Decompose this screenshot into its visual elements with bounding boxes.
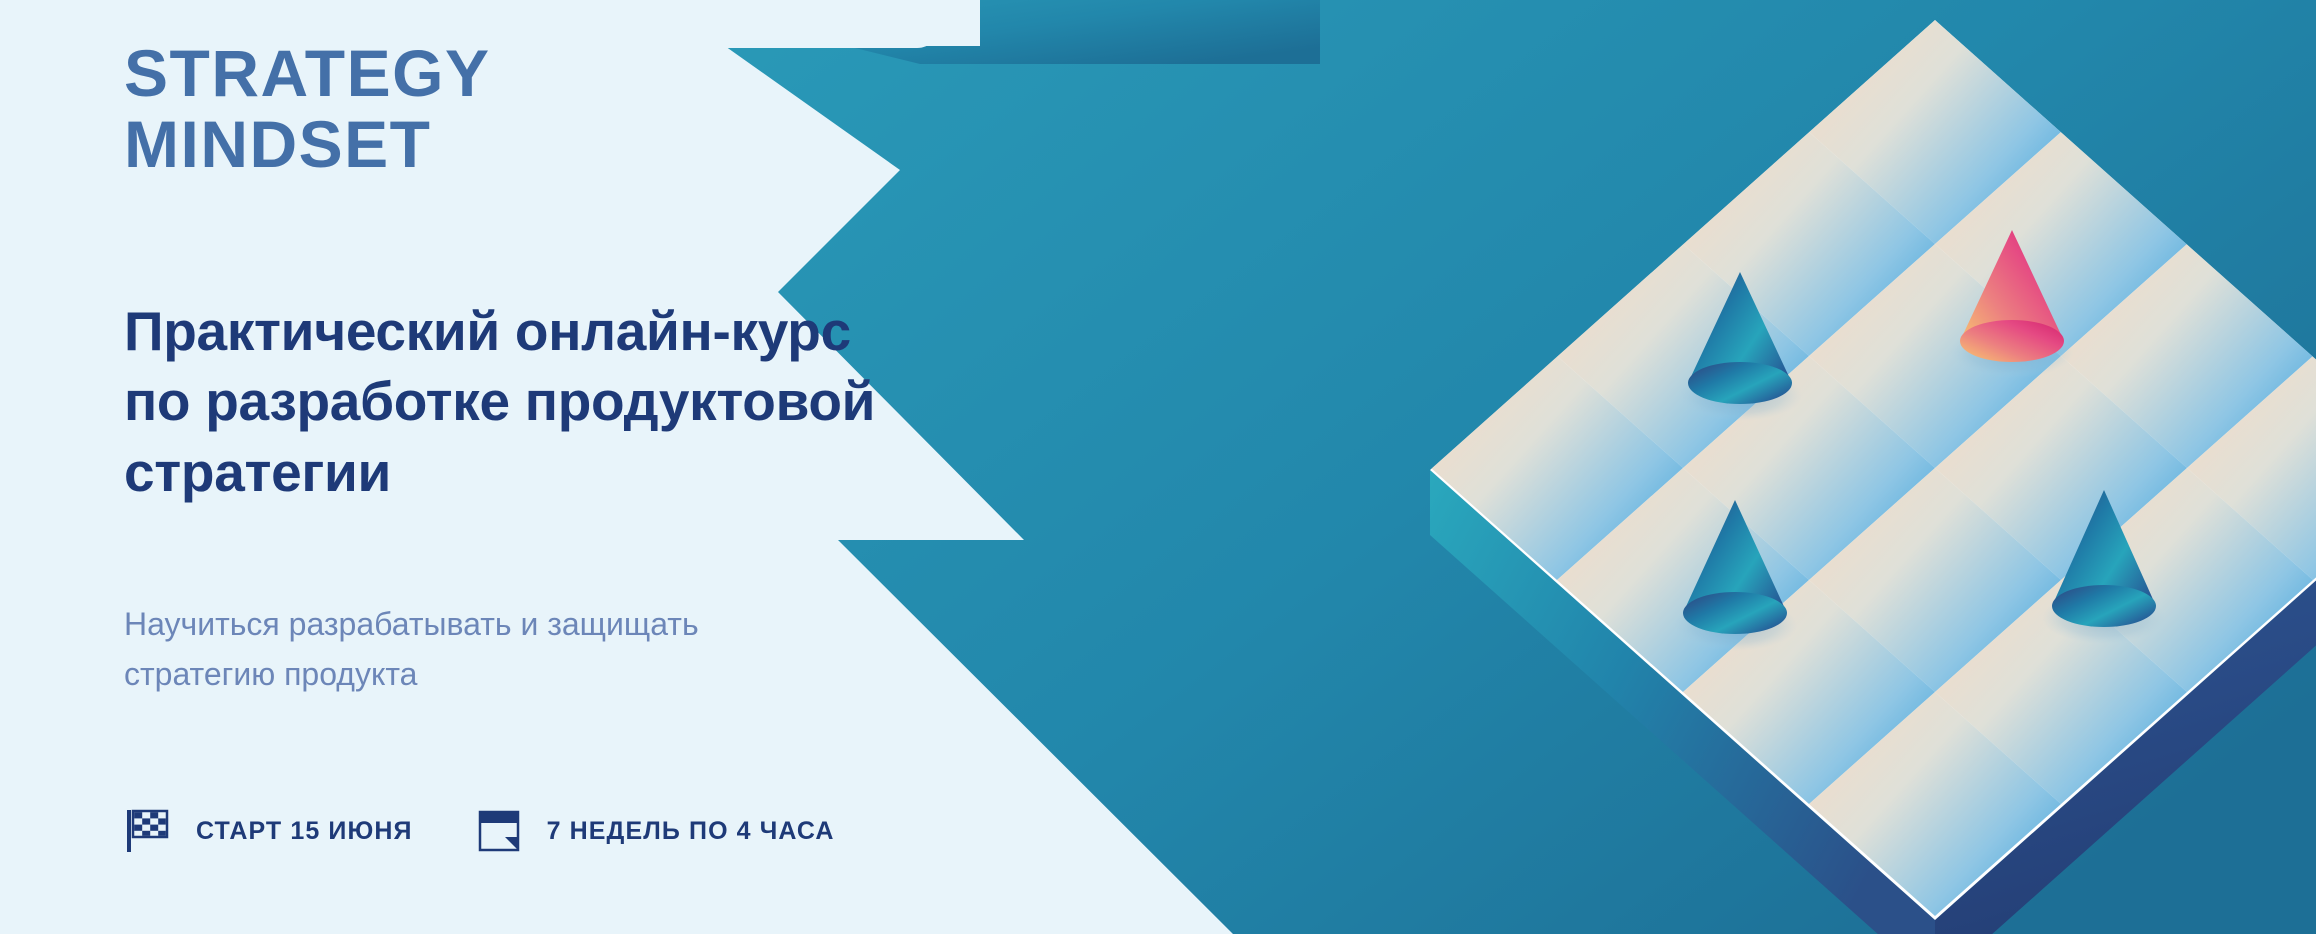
page-title: Практический онлайн-курс по разработке п…	[124, 296, 1084, 507]
subtitle-line-2: стратегию продукта	[124, 650, 944, 700]
kicker-line-2: MINDSET	[124, 109, 824, 180]
meta-item-start-date: СТАРТ 15 ИЮНЯ	[124, 806, 413, 856]
meta-item-duration: 7 НЕДЕЛЬ ПО 4 ЧАСА	[475, 806, 835, 856]
subtitle-line-1: Научиться разрабатывать и защищать	[124, 600, 944, 650]
meta-label-duration: 7 НЕДЕЛЬ ПО 4 ЧАСА	[547, 817, 835, 846]
calendar-page-icon	[475, 806, 525, 856]
banner-meta-row: СТАРТ 15 ИЮНЯ 7 НЕДЕЛЬ ПО 4 ЧАСА	[124, 806, 835, 856]
banner-kicker: STRATEGY MINDSET	[124, 38, 824, 179]
headline-line-3: стратегии	[124, 437, 1084, 507]
promo-banner: STRATEGY MINDSET Практический онлайн-кур…	[0, 0, 2316, 934]
headline-line-1: Практический онлайн-курс	[124, 296, 1084, 366]
banner-subtitle: Научиться разрабатывать и защищать страт…	[124, 600, 944, 699]
headline-line-2: по разработке продуктовой	[124, 366, 1084, 436]
checkered-flag-icon	[124, 806, 174, 856]
kicker-line-1: STRATEGY	[124, 38, 824, 109]
banner-content: STRATEGY MINDSET Практический онлайн-кур…	[0, 0, 1120, 934]
meta-label-start-date: СТАРТ 15 ИЮНЯ	[196, 817, 413, 846]
